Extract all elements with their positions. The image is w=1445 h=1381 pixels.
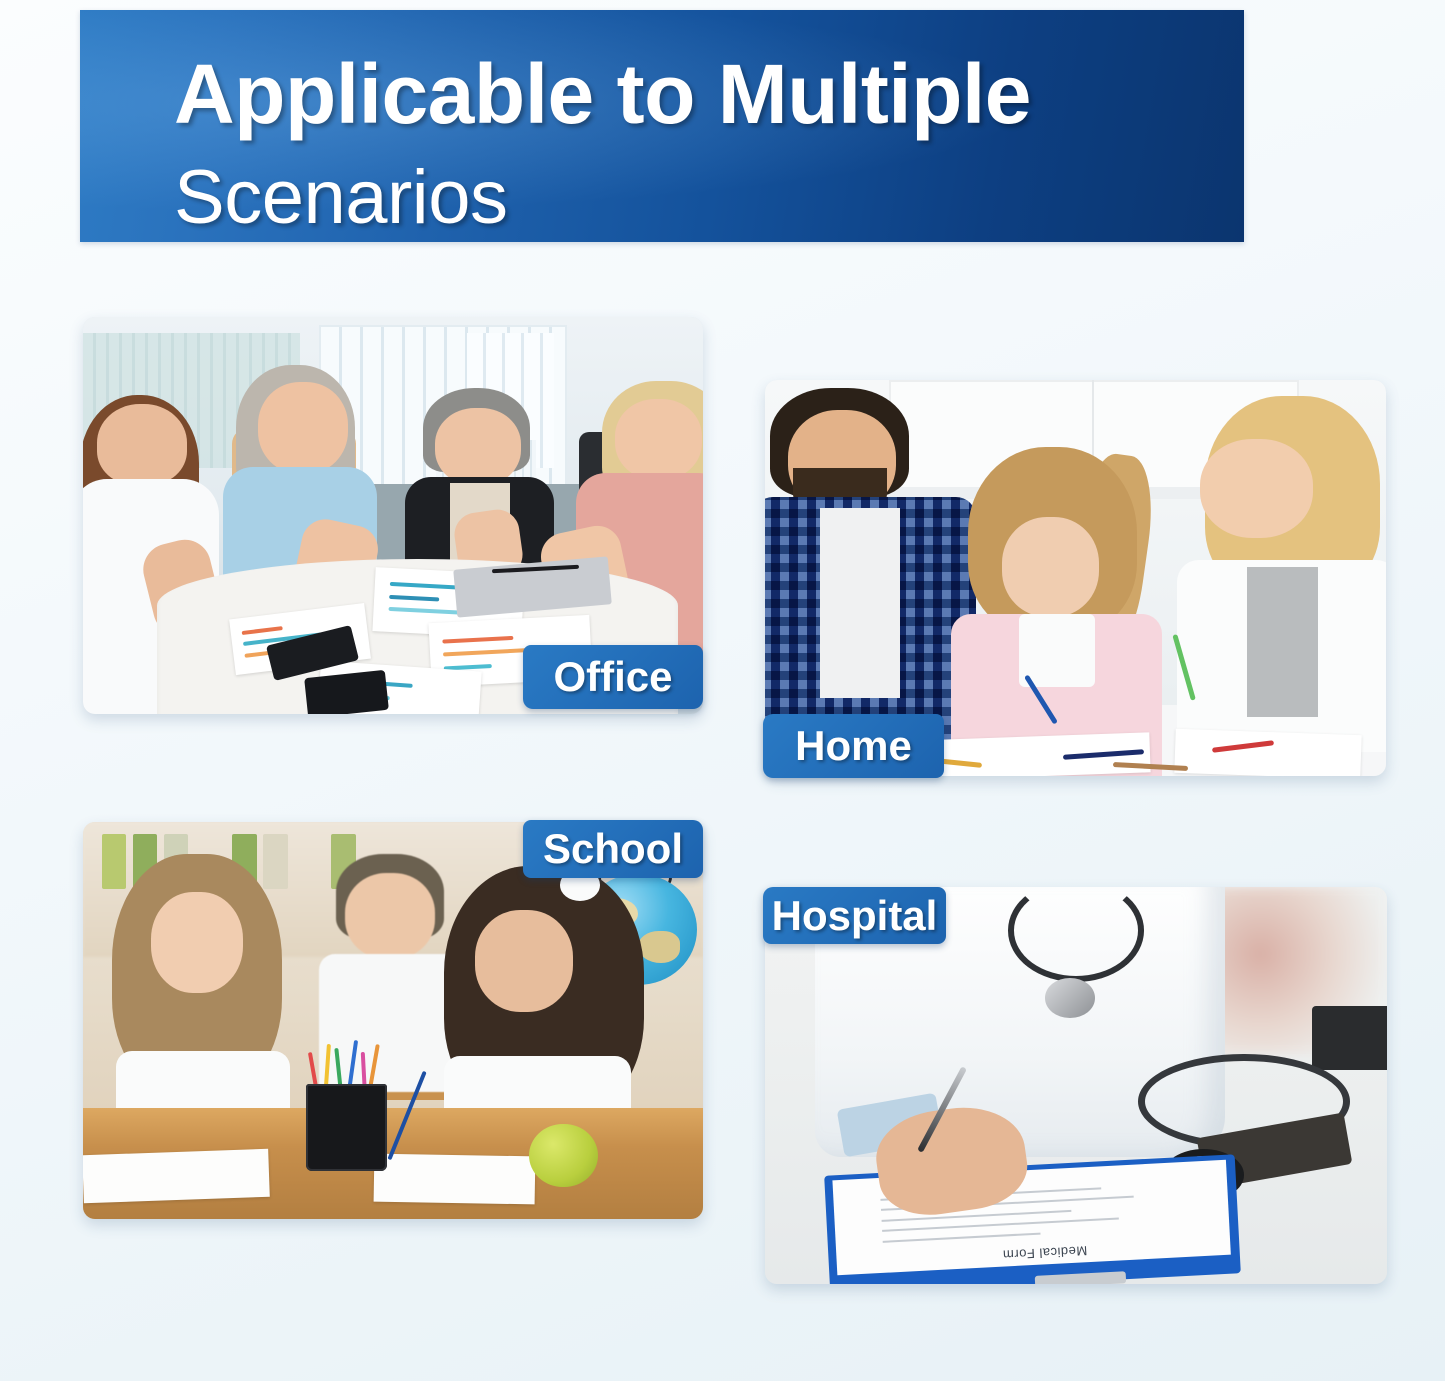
banner-title-line-1: Applicable to Multiple [174, 50, 1031, 138]
scenario-tag-school[interactable]: School [523, 820, 703, 878]
header-banner: Applicable to Multiple Scenarios [80, 10, 1244, 242]
banner-title-line-2: Scenarios [174, 158, 507, 238]
scenario-tag-home[interactable]: Home [763, 714, 944, 778]
hospital-photo: Medical Form [765, 887, 1387, 1284]
scenario-card-school[interactable] [83, 822, 703, 1219]
scenario-tag-hospital[interactable]: Hospital [763, 887, 946, 944]
scenarios-page: Applicable to Multiple Scenarios [0, 0, 1445, 1381]
medical-form-title: Medical Form [1002, 1243, 1087, 1262]
scenario-tag-office[interactable]: Office [523, 645, 703, 709]
scenario-card-hospital[interactable]: Medical Form [765, 887, 1387, 1284]
school-photo [83, 822, 703, 1219]
